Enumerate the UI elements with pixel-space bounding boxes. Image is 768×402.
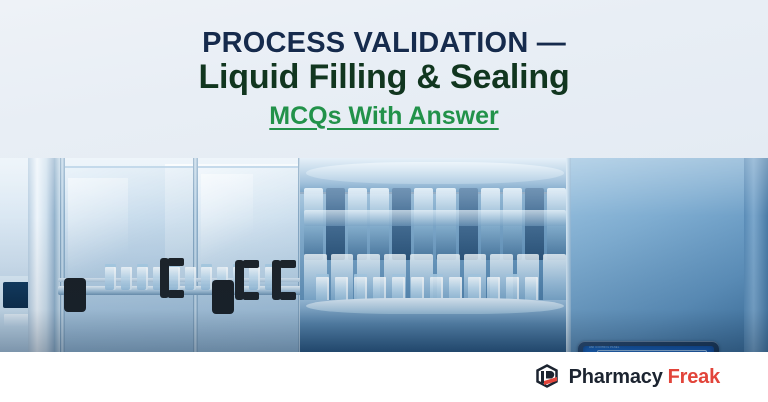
footer-bar: PharmacyFreak [0,352,768,402]
logo-word-accent: Freak [668,366,720,388]
header-banner: PROCESS VALIDATION — Liquid Filling & Se… [0,0,768,158]
carousel-turntable [306,298,564,314]
vial [249,267,260,290]
vial [185,267,196,290]
machine-body-right [566,158,768,352]
vial [525,277,538,302]
vial [105,267,116,290]
hmi-tiny-label: HMI CONTROL PANEL [589,346,620,349]
hmi-control-panel[interactable]: HMI CONTROL PANEL VALIDATION PROCESS STA… [578,341,719,352]
carousel-ring [306,162,564,184]
pharmacy-freak-logo-mark [534,364,560,390]
vial [316,277,329,302]
machine-photo: HMI CONTROL PANEL VALIDATION PROCESS STA… [0,158,768,352]
glass-frame-2 [193,158,198,352]
door-handle-1 [160,258,169,298]
vial [201,267,212,290]
page-subtitle-mcqs: MCQs With Answer [269,102,498,131]
piston-manifold [304,210,566,226]
vial [169,267,180,290]
door-handle-2 [235,260,244,300]
vial [335,277,348,302]
machine-column-left [28,158,54,352]
machine-body-edge-left [566,158,571,352]
page-title-line-2: Liquid Filling & Sealing [198,59,569,96]
vial [121,267,132,290]
poster-container: PROCESS VALIDATION — Liquid Filling & Se… [0,0,768,402]
vial [137,267,148,290]
glass-frame-1 [60,158,65,352]
conveyor-vial-row [105,264,295,290]
logo-wordmark: PharmacyFreak [569,366,720,389]
pharmacy-freak-logo[interactable]: PharmacyFreak [534,364,720,390]
page-title-line-1: PROCESS VALIDATION — [202,28,566,59]
glass-panel-2 [195,166,300,352]
conveyor-guide-left [64,278,86,312]
conveyor-guide-right [212,280,234,314]
door-handle-3 [272,260,281,300]
machine-body-edge-right [744,158,768,352]
logo-word-primary: Pharmacy [569,366,663,388]
